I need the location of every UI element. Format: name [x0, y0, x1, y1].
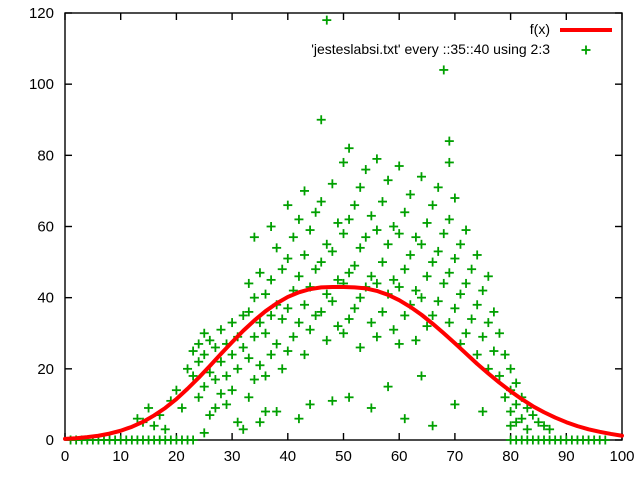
x-tick-label: 50 [335, 448, 352, 465]
chart-background [0, 0, 640, 480]
legend-label-fx: f(x) [530, 21, 550, 37]
y-tick-label: 40 [37, 290, 54, 307]
x-tick-label: 30 [224, 448, 241, 465]
y-tick-label: 20 [37, 361, 54, 378]
x-tick-label: 10 [112, 448, 129, 465]
x-tick-label: 80 [502, 448, 519, 465]
y-tick-label: 60 [37, 219, 54, 236]
y-tick-label: 120 [29, 5, 54, 22]
y-tick-label: 100 [29, 76, 54, 93]
y-tick-label: 80 [37, 147, 54, 164]
x-tick-label: 60 [391, 448, 408, 465]
x-tick-label: 40 [279, 448, 296, 465]
legend-label-datafile: 'jesteslabsi.txt' every ::35::40 using 2… [311, 41, 550, 57]
x-tick-label: 100 [609, 448, 634, 465]
x-tick-label: 90 [558, 448, 575, 465]
plot-canvas: 020406080100120 0102030405060708090100 f… [0, 0, 640, 480]
x-tick-label: 0 [61, 448, 69, 465]
x-tick-label: 70 [447, 448, 464, 465]
chart-container: 020406080100120 0102030405060708090100 f… [0, 0, 640, 480]
y-tick-label: 0 [46, 432, 54, 449]
x-tick-label: 20 [168, 448, 185, 465]
